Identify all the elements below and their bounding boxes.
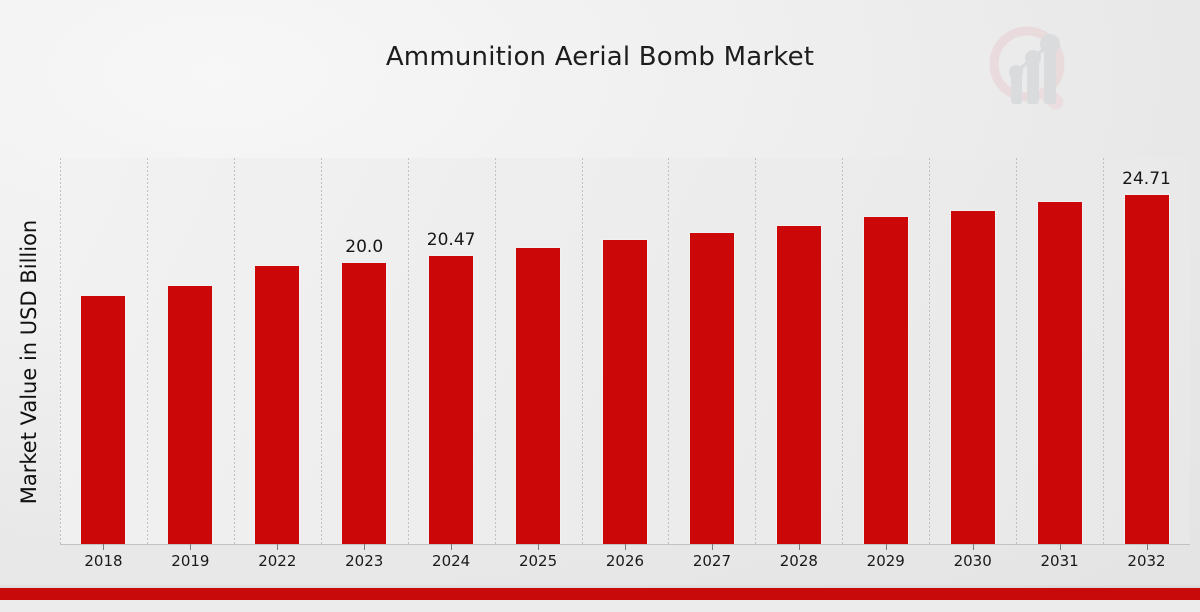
bar[interactable] bbox=[689, 232, 735, 544]
chart-page: Ammunition Aerial Bomb Market Market Val… bbox=[0, 0, 1200, 600]
bar[interactable] bbox=[428, 255, 474, 544]
bar-cell[interactable] bbox=[582, 158, 669, 544]
bar[interactable] bbox=[341, 262, 387, 544]
x-axis-tick-label: 2022 bbox=[234, 552, 321, 570]
x-axis-tick-label: 2026 bbox=[582, 552, 669, 570]
y-axis-title: Market Value in USD Billion bbox=[17, 112, 41, 612]
x-axis-tick bbox=[625, 544, 626, 550]
x-axis-tick bbox=[190, 544, 191, 550]
x-axis-tick bbox=[277, 544, 278, 550]
x-axis-tick bbox=[451, 544, 452, 550]
bar-cell[interactable] bbox=[60, 158, 147, 544]
bar-series: 20.020.4724.71 bbox=[60, 158, 1190, 544]
x-axis-tick-label: 2025 bbox=[495, 552, 582, 570]
bar[interactable] bbox=[167, 285, 213, 544]
bar[interactable] bbox=[1124, 194, 1170, 544]
bar[interactable] bbox=[1037, 201, 1083, 544]
x-axis-tick-label: 2018 bbox=[60, 552, 147, 570]
plot-area: 20.020.4724.71 bbox=[60, 158, 1190, 544]
x-axis-tick-label: 2023 bbox=[321, 552, 408, 570]
x-axis-tick-labels: 2018201920222023202420252026202720282029… bbox=[60, 552, 1190, 570]
bottom-accent-band bbox=[0, 588, 1200, 600]
bar-data-label: 20.47 bbox=[427, 232, 476, 249]
x-axis-tick bbox=[799, 544, 800, 550]
x-axis-tick-label: 2029 bbox=[842, 552, 929, 570]
x-axis-tick bbox=[712, 544, 713, 550]
bar[interactable] bbox=[515, 247, 561, 544]
x-axis-tick-label: 2027 bbox=[668, 552, 755, 570]
bar-data-label: 24.71 bbox=[1122, 171, 1171, 188]
bar-cell[interactable] bbox=[495, 158, 582, 544]
bar[interactable] bbox=[80, 295, 126, 544]
bar[interactable] bbox=[863, 216, 909, 544]
chart-title: Ammunition Aerial Bomb Market bbox=[0, 42, 1200, 72]
x-axis-tick bbox=[973, 544, 974, 550]
bar-data-label: 20.0 bbox=[345, 239, 383, 256]
x-axis-tick bbox=[1147, 544, 1148, 550]
x-axis-tick-label: 2028 bbox=[755, 552, 842, 570]
bar-cell[interactable] bbox=[234, 158, 321, 544]
x-axis-tick-label: 2024 bbox=[408, 552, 495, 570]
x-axis-tick bbox=[103, 544, 104, 550]
bar[interactable] bbox=[602, 239, 648, 544]
x-axis-tick bbox=[538, 544, 539, 550]
x-axis-tick-label: 2019 bbox=[147, 552, 234, 570]
bar-cell[interactable] bbox=[668, 158, 755, 544]
x-axis-tick-label: 2031 bbox=[1016, 552, 1103, 570]
x-axis-tick-label: 2030 bbox=[929, 552, 1016, 570]
x-axis-tick bbox=[364, 544, 365, 550]
bar-cell[interactable] bbox=[147, 158, 234, 544]
bar-cell[interactable] bbox=[755, 158, 842, 544]
x-axis-tick bbox=[1060, 544, 1061, 550]
bar[interactable] bbox=[950, 210, 996, 544]
bar-cell[interactable]: 20.47 bbox=[408, 158, 495, 544]
bar-cell[interactable] bbox=[1016, 158, 1103, 544]
bar[interactable] bbox=[254, 265, 300, 544]
bar-cell[interactable]: 20.0 bbox=[321, 158, 408, 544]
bar-cell[interactable] bbox=[929, 158, 1016, 544]
bar-cell[interactable]: 24.71 bbox=[1103, 158, 1190, 544]
bar[interactable] bbox=[776, 225, 822, 544]
x-axis-tick-label: 2032 bbox=[1103, 552, 1190, 570]
bar-cell[interactable] bbox=[842, 158, 929, 544]
x-axis-tick bbox=[886, 544, 887, 550]
